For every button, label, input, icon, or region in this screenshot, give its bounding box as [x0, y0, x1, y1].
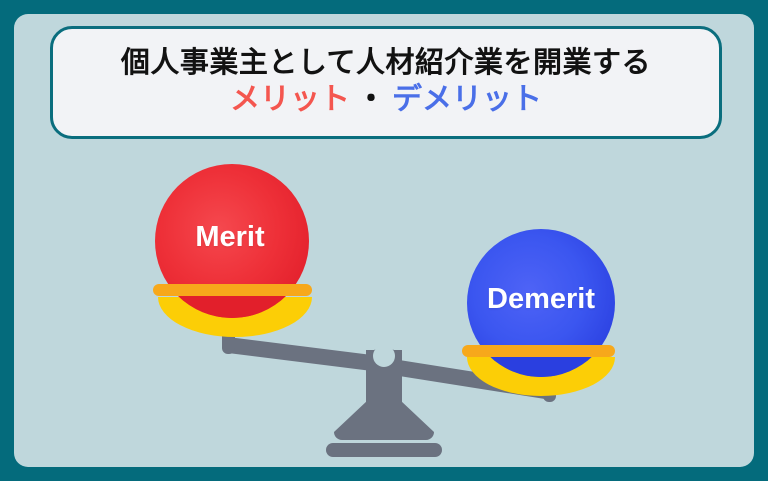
title-card: 個人事業主として人材紹介業を開業する メリット・デメリット — [50, 26, 722, 139]
page-title-line-2: メリット・デメリット — [230, 82, 542, 118]
title-merit-word: メリット — [230, 83, 350, 116]
title-separator: ・ — [356, 83, 386, 116]
page-title-line-1: 個人事業主として人材紹介業を開業する — [121, 47, 651, 80]
title-demerit-word: デメリット — [392, 83, 542, 116]
screenshot-canvas: 個人事業主として人材紹介業を開業する メリット・デメリット — [0, 0, 768, 481]
